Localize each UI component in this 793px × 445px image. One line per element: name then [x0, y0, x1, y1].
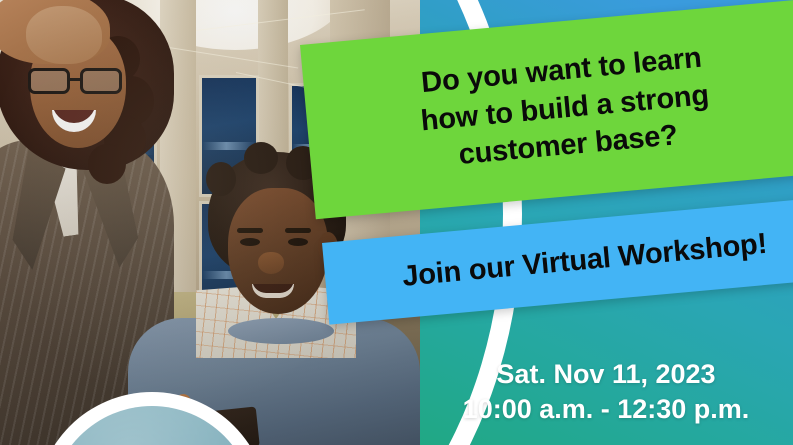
event-time: 10:00 a.m. - 12:30 p.m. — [441, 392, 771, 427]
event-date: Sat. Nov 11, 2023 — [441, 357, 771, 392]
promotional-poster: Do you want to learn how to build a stro… — [0, 0, 793, 445]
headline-text: Do you want to learn how to build a stro… — [382, 37, 742, 181]
event-details: Sat. Nov 11, 2023 10:00 a.m. - 12:30 p.m… — [441, 357, 771, 427]
cta-label: Join our Virtual Workshop! — [365, 225, 784, 298]
